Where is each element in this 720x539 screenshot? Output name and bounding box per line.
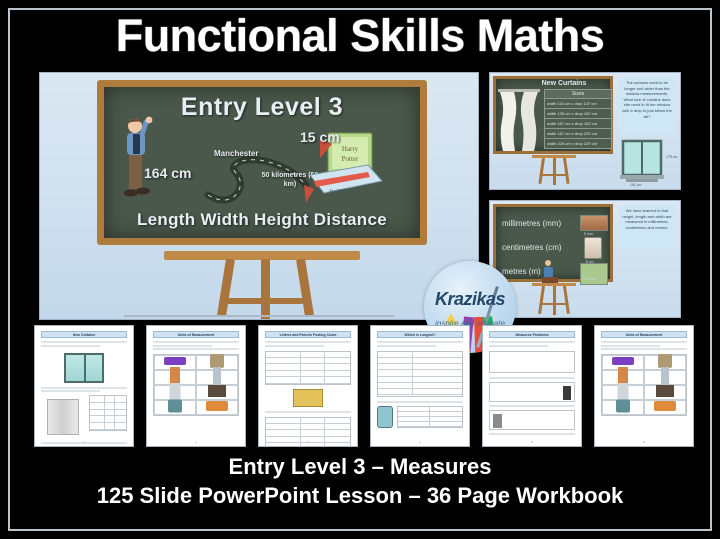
bin-object-icon <box>210 354 224 368</box>
costs-table <box>265 351 351 385</box>
chair-object-icon <box>168 400 182 413</box>
boot-icon <box>493 414 502 428</box>
sofa-object-icon <box>206 401 228 411</box>
bin-object-icon <box>658 354 672 368</box>
text-line <box>489 377 575 379</box>
text-line <box>601 348 687 350</box>
answer-table <box>89 395 127 431</box>
easel-leg-left <box>217 258 235 317</box>
text-line <box>265 345 324 347</box>
grid-cell <box>602 385 644 400</box>
teacher-figure-icon <box>540 259 562 285</box>
text-line <box>601 345 660 347</box>
answer-box <box>489 410 575 430</box>
table-row <box>90 410 126 417</box>
mini-easel-icon <box>530 283 578 315</box>
object-grid <box>153 354 239 416</box>
radiator-object-icon <box>213 367 221 385</box>
text-line <box>377 345 436 347</box>
unit-image-metres <box>580 263 608 285</box>
fridge-object-icon <box>170 383 181 399</box>
table-row <box>378 389 462 395</box>
worksheet-thumbnail: Measures Problems 5 <box>482 325 582 447</box>
text-line <box>601 341 687 343</box>
width-label: 15 cm <box>300 129 340 145</box>
worksheet-thumbnail: Units of Measurement 2 <box>146 325 246 447</box>
worksheet-title: Letters and Parcels Posting Costs <box>265 331 351 338</box>
svg-text:Harry: Harry <box>342 145 359 153</box>
sizes-table-row: width 167 cm x drop 229 cm <box>544 129 612 139</box>
radiator-object-icon <box>661 367 669 385</box>
grid-cell <box>154 385 196 400</box>
tv-object-icon <box>656 385 674 397</box>
answer-table <box>397 406 463 428</box>
comparison-table <box>377 351 463 397</box>
grid-cell <box>602 400 644 415</box>
bed-object-icon <box>164 357 186 365</box>
answer-box <box>489 351 575 373</box>
text-line <box>265 341 351 343</box>
chair-object-icon <box>616 400 630 413</box>
text-line <box>41 387 127 389</box>
speech-bubble-curtains: The curtains need to be longer and wider… <box>618 77 676 135</box>
fridge-object-icon <box>618 383 629 399</box>
bed-object-icon <box>612 357 634 365</box>
grid-cell <box>644 370 686 385</box>
slide-preview-units: millimetres (mm) centimetres (cm) metres… <box>489 200 681 318</box>
window-drop-label: 178 cm <box>666 155 677 159</box>
sizes-table: Sizes width 116 cm x drop 137 cm width 1… <box>544 89 612 151</box>
place-label: Manchester <box>214 149 258 158</box>
grid-cell <box>644 385 686 400</box>
worksheet-title: Measures Problems <box>489 331 575 338</box>
logo-name: Krazikas <box>424 289 516 310</box>
object-grid <box>601 354 687 416</box>
tv-object-icon <box>208 385 226 397</box>
text-line <box>41 390 100 392</box>
easel-leg-center <box>261 259 270 320</box>
speech-bubble-units: We have learned to that height, length a… <box>618 205 676 249</box>
worksheet-page-number: 6 <box>595 440 693 444</box>
unit-caption-cm: 8 cm <box>586 260 594 264</box>
sizes-table-row: width 116 cm x drop 137 cm <box>544 99 612 109</box>
grid-cell <box>196 385 238 400</box>
text-line <box>377 401 463 403</box>
window-diagram <box>64 353 104 383</box>
product-cover: Functional Skills Maths Entry Level 3 16… <box>0 0 720 539</box>
height-label: 164 cm <box>144 165 191 181</box>
sofa-object-icon <box>654 401 676 411</box>
worksheet-title: Units of Measurement <box>601 331 687 338</box>
unit-centimetres: centimetres (cm) <box>502 243 562 252</box>
unit-caption-m: 2 metres <box>582 277 596 281</box>
worksheet-page-number: 5 <box>483 440 581 444</box>
table-row <box>266 377 350 383</box>
worksheet-page-number: 4 <box>371 440 469 444</box>
worksheet-thumbnail: Units of Measurement 6 <box>594 325 694 447</box>
suitcase-icon <box>377 406 393 428</box>
page-title: Functional Skills Maths <box>0 10 720 62</box>
sizes-table-header: Sizes <box>544 89 612 99</box>
blackboard-footer: Length Width Height Distance <box>104 210 420 230</box>
text-line <box>489 345 548 347</box>
unit-caption-mm: 5 mm <box>584 232 593 236</box>
answer-box <box>489 382 575 402</box>
table-row <box>90 396 126 403</box>
table-row <box>398 422 462 427</box>
svg-text:Potter: Potter <box>342 155 359 163</box>
window-width-label: 162 cm <box>630 183 641 187</box>
cover-caption: Entry Level 3 – Measures 125 Slide Power… <box>0 452 720 511</box>
text-line <box>265 411 351 413</box>
table-row <box>90 403 126 410</box>
worksheet-thumbnail: Letters and Parcels Posting Costs 3 <box>258 325 358 447</box>
mini-board-title: New Curtains <box>514 80 614 87</box>
text-line <box>489 433 575 435</box>
sizes-table-row: width 167 cm x drop 183 cm <box>544 119 612 129</box>
main-slide-preview: Entry Level 3 164 cm Manchester <box>39 72 479 320</box>
curtain-diagram <box>47 399 79 435</box>
text-line <box>489 405 575 407</box>
unit-millimetres: millimetres (mm) <box>502 219 561 228</box>
parcel-box-icon <box>293 389 323 407</box>
text-line <box>41 341 127 343</box>
grid-cell <box>196 400 238 415</box>
caption-line-2: 125 Slide PowerPoint Lesson – 36 Page Wo… <box>0 481 720 511</box>
window-icon <box>620 139 664 183</box>
worksheet-title: Which is Longest? <box>377 331 463 338</box>
text-line <box>153 348 239 350</box>
worksheet-title: New Curtains <box>41 331 127 338</box>
worksheet-page-number: 2 <box>147 440 245 444</box>
svg-text:Potter: Potter <box>329 186 348 197</box>
table-row <box>90 423 126 430</box>
text-line <box>41 345 100 347</box>
text-line <box>153 345 212 347</box>
worksheet-page-number: 1 <box>35 440 133 444</box>
text-line <box>41 446 100 448</box>
grid-cell <box>154 400 196 415</box>
easel-leg-right <box>296 258 314 317</box>
worksheet-thumbnail-row: New Curtains 1 Units of Measurem <box>34 325 689 447</box>
curtain-icon <box>498 89 540 151</box>
unit-image-millimetres <box>580 215 608 231</box>
mini-easel-icon <box>530 155 578 185</box>
easel-cross-bar <box>220 298 304 304</box>
mini-blackboard-units: millimetres (mm) centimetres (cm) metres… <box>493 204 613 282</box>
worksheet-title: Units of Measurement <box>153 331 239 338</box>
floor-line <box>124 315 394 317</box>
sizes-table-row: width 228 cm x drop 229 cm <box>544 139 612 149</box>
text-line <box>153 341 239 343</box>
slide-preview-new-curtains: New Curtains Sizes width 116 cm x drop 1… <box>489 72 681 190</box>
unit-image-centimetres <box>584 237 602 259</box>
caption-line-1: Entry Level 3 – Measures <box>0 452 720 481</box>
shoe-icon <box>563 386 571 400</box>
grid-cell <box>644 400 686 415</box>
worksheet-thumbnail: New Curtains 1 <box>34 325 134 447</box>
sizes-table-row: width 135 cm x drop 160 cm <box>544 109 612 119</box>
unit-metres: metres (m) <box>502 267 541 276</box>
grid-cell <box>196 370 238 385</box>
blackboard: Entry Level 3 164 cm Manchester <box>97 80 427 245</box>
worksheet-page-number: 3 <box>259 440 357 444</box>
table-row <box>90 416 126 423</box>
mini-blackboard-curtains: New Curtains Sizes width 116 cm x drop 1… <box>493 76 613 154</box>
text-line <box>489 341 575 343</box>
worksheet-thumbnail: Which is Longest? <box>370 325 470 447</box>
text-line <box>377 341 463 343</box>
